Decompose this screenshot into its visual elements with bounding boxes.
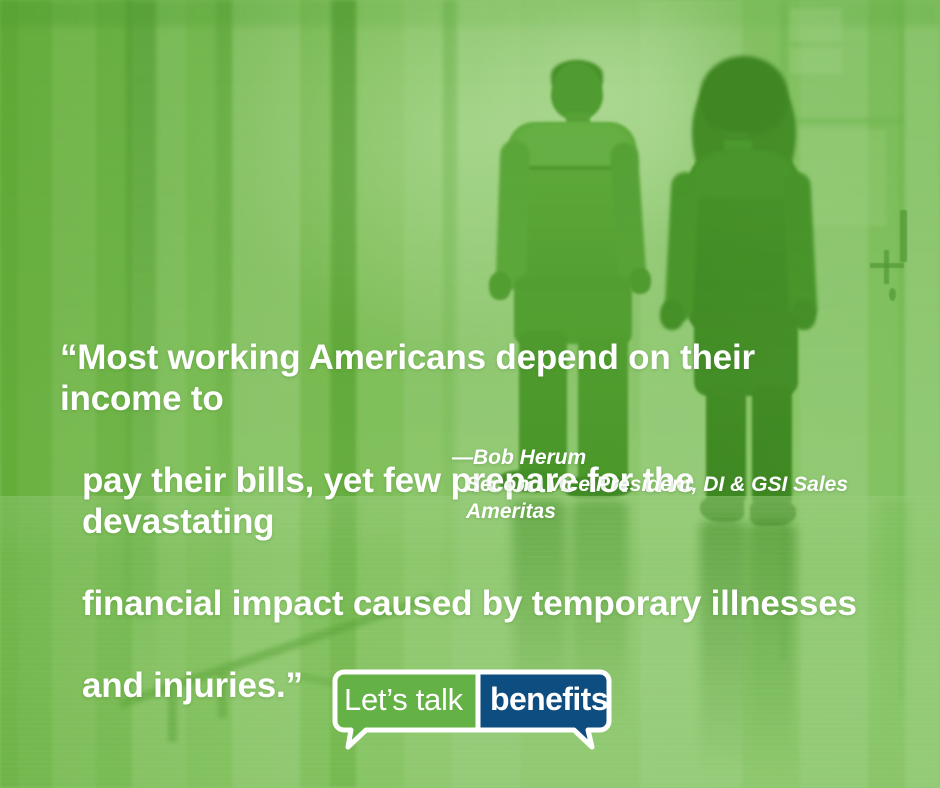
attribution-job-title: Second Vice President, DI & GSI Sales [452,471,848,498]
quote-line-1: “Most working Americans depend on their … [60,337,880,419]
attribution-name: —Bob Herum [452,444,848,471]
logo-benefits-text: benefits [490,681,608,718]
quote-line-3: financial impact caused by temporary ill… [60,583,880,624]
attribution-organization: Ameritas [452,498,848,525]
lets-talk-benefits-logo[interactable]: Let’s talk benefits [326,668,618,750]
quote-attribution: —Bob Herum Second Vice President, DI & G… [452,444,848,525]
logo-lets-talk-text: Let’s talk [344,682,463,718]
quote-card: “Most working Americans depend on their … [0,0,940,788]
